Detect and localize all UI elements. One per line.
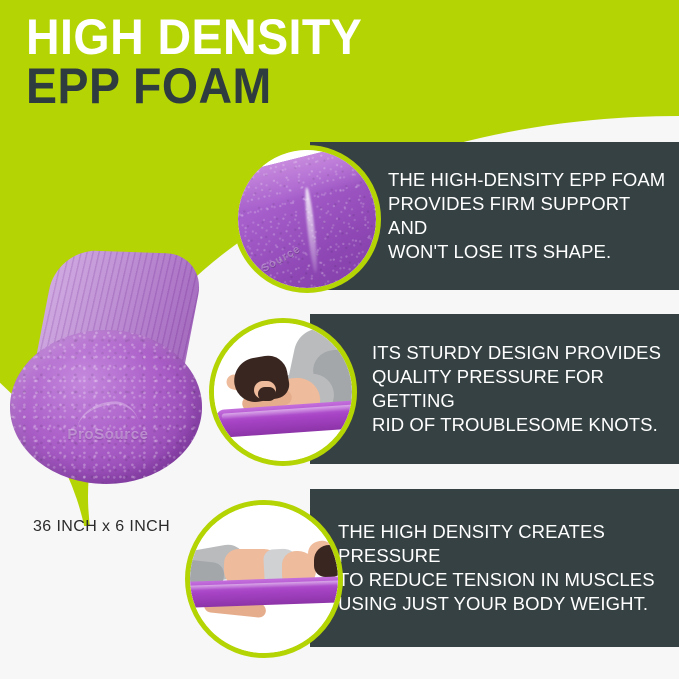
- feature-image-2: [209, 318, 357, 466]
- feature-image-3: [185, 500, 343, 658]
- feature-image-1: ProSource: [233, 145, 381, 293]
- feature-text-3: THE HIGH DENSITY CREATES PRESSURE TO RED…: [310, 520, 679, 616]
- product-infographic: HIGH DENSITY EPP FOAM THE HIGH-DENSITY E…: [0, 0, 679, 679]
- roller-end-cap: ProSource: [10, 330, 202, 484]
- prone-exercise-scene: [214, 323, 352, 461]
- feature-panel-3: THE HIGH DENSITY CREATES PRESSURE TO RED…: [310, 489, 679, 647]
- foam-roller-surface: ProSource: [238, 150, 376, 288]
- brand-emboss-text: ProSource: [38, 426, 178, 443]
- prone-exercise-photo: [214, 323, 352, 461]
- hair: [314, 545, 338, 577]
- foam-roller: [215, 400, 352, 438]
- dimension-label: 36 INCH x 6 INCH: [33, 518, 170, 536]
- hero-product-image: ProSource: [8, 256, 204, 488]
- supine-exercise-scene: [190, 505, 338, 653]
- feature-panel-2: ITS STURDY DESIGN PROVIDES QUALITY PRESS…: [310, 314, 679, 464]
- foam-roller: [190, 576, 338, 608]
- supine-exercise-photo: [190, 505, 338, 653]
- page-title: HIGH DENSITY EPP FOAM: [26, 14, 388, 109]
- hair-bun: [258, 387, 276, 401]
- foam-closeup-photo: ProSource: [238, 150, 376, 288]
- feature-text-2: ITS STURDY DESIGN PROVIDES QUALITY PRESS…: [310, 341, 679, 437]
- title-line-primary: HIGH DENSITY: [26, 14, 362, 60]
- title-line-secondary: EPP FOAM: [26, 63, 362, 109]
